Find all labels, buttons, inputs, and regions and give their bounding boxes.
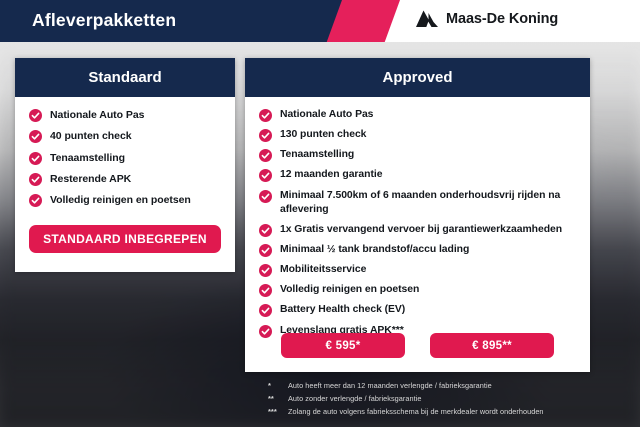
price-button-895[interactable]: € 895** bbox=[430, 333, 554, 358]
list-item: 130 punten check bbox=[259, 128, 576, 142]
check-circle-icon bbox=[259, 109, 272, 122]
list-item: Resterende APK bbox=[29, 172, 221, 186]
list-item: Mobiliteitsservice bbox=[259, 263, 576, 277]
card-title-approved: Approved bbox=[245, 58, 590, 97]
check-circle-icon bbox=[259, 224, 272, 237]
feature-label: Minimaal 7.500km of 6 maanden onderhouds… bbox=[280, 189, 576, 217]
price-button-595[interactable]: € 595* bbox=[281, 333, 405, 358]
list-item: Nationale Auto Pas bbox=[29, 108, 221, 122]
footnote-3: *** Zolang de auto volgens fabrieksschem… bbox=[268, 406, 640, 418]
list-item: Minimaal 7.500km of 6 maanden onderhouds… bbox=[259, 189, 576, 217]
check-circle-icon bbox=[259, 284, 272, 297]
check-circle-icon bbox=[29, 194, 42, 207]
check-circle-icon bbox=[259, 244, 272, 257]
list-item: Tenaamstelling bbox=[259, 148, 576, 162]
list-item: 40 punten check bbox=[29, 129, 221, 143]
footnote-marker: *** bbox=[268, 406, 288, 418]
brand-name: Maas-De Koning bbox=[446, 11, 558, 27]
feature-label: 1x Gratis vervangend vervoer bij garanti… bbox=[280, 223, 562, 237]
footnote-marker: ** bbox=[268, 393, 288, 405]
feature-label: Volledig reinigen en poetsen bbox=[50, 193, 191, 207]
brand-lockup: Maas-De Koning bbox=[415, 9, 558, 29]
list-item: 1x Gratis vervangend vervoer bij garanti… bbox=[259, 223, 576, 237]
feature-label: Minimaal ½ tank brandstof/accu lading bbox=[280, 243, 469, 257]
footnote-text: Zolang de auto volgens fabrieksschema bi… bbox=[288, 406, 544, 417]
footnote-text: Auto heeft meer dan 12 maanden verlengde… bbox=[288, 380, 492, 391]
feature-label: Nationale Auto Pas bbox=[280, 108, 373, 122]
maas-de-koning-m-logo-icon bbox=[415, 9, 439, 29]
check-circle-icon bbox=[259, 190, 272, 203]
feature-label: Resterende APK bbox=[50, 172, 131, 186]
check-circle-icon bbox=[29, 109, 42, 122]
footnote-1: * Auto heeft meer dan 12 maanden verleng… bbox=[268, 380, 640, 392]
list-item: Volledig reinigen en poetsen bbox=[29, 193, 221, 207]
header-bar: Afleverpakketten Maas-De Koning bbox=[0, 0, 640, 42]
list-item: Volledig reinigen en poetsen bbox=[259, 283, 576, 297]
feature-label: Mobiliteitsservice bbox=[280, 263, 366, 277]
check-circle-icon bbox=[259, 264, 272, 277]
feature-label: Volledig reinigen en poetsen bbox=[280, 283, 419, 297]
check-circle-icon bbox=[29, 173, 42, 186]
list-item: Minimaal ½ tank brandstof/accu lading bbox=[259, 243, 576, 257]
list-item: 12 maanden garantie bbox=[259, 168, 576, 182]
check-circle-icon bbox=[29, 152, 42, 165]
feature-list-standaard: Nationale Auto Pas 40 punten check Tenaa… bbox=[15, 97, 235, 207]
footnotes: * Auto heeft meer dan 12 maanden verleng… bbox=[268, 380, 640, 419]
list-item: Tenaamstelling bbox=[29, 151, 221, 165]
feature-label: Tenaamstelling bbox=[50, 151, 125, 165]
promo-slide: Afleverpakketten Maas-De Koning Standaar… bbox=[0, 0, 640, 427]
package-card-approved: Approved Nationale Auto Pas 130 punten c… bbox=[245, 58, 590, 372]
footnote-marker: * bbox=[268, 380, 288, 392]
footnote-2: ** Auto zonder verlengde / fabrieksgaran… bbox=[268, 393, 640, 405]
list-item: Battery Health check (EV) bbox=[259, 303, 576, 317]
check-circle-icon bbox=[29, 130, 42, 143]
footnote-text: Auto zonder verlengde / fabrieksgarantie bbox=[288, 393, 421, 404]
feature-label: 12 maanden garantie bbox=[280, 168, 382, 182]
feature-label: Battery Health check (EV) bbox=[280, 303, 405, 317]
page-title: Afleverpakketten bbox=[32, 10, 176, 31]
package-card-standaard: Standaard Nationale Auto Pas 40 punten c… bbox=[15, 58, 235, 272]
card-title-standaard: Standaard bbox=[15, 58, 235, 97]
check-circle-icon bbox=[259, 304, 272, 317]
check-circle-icon bbox=[259, 169, 272, 182]
check-circle-icon bbox=[259, 129, 272, 142]
feature-list-approved: Nationale Auto Pas 130 punten check Tena… bbox=[245, 97, 590, 338]
standaard-inbegrepen-button[interactable]: STANDAARD INBEGREPEN bbox=[29, 225, 221, 253]
feature-label: 130 punten check bbox=[280, 128, 366, 142]
price-button-row: € 595* € 895** bbox=[245, 333, 590, 358]
feature-label: Nationale Auto Pas bbox=[50, 108, 144, 122]
feature-label: Tenaamstelling bbox=[280, 148, 354, 162]
list-item: Nationale Auto Pas bbox=[259, 108, 576, 122]
check-circle-icon bbox=[259, 149, 272, 162]
feature-label: 40 punten check bbox=[50, 129, 132, 143]
